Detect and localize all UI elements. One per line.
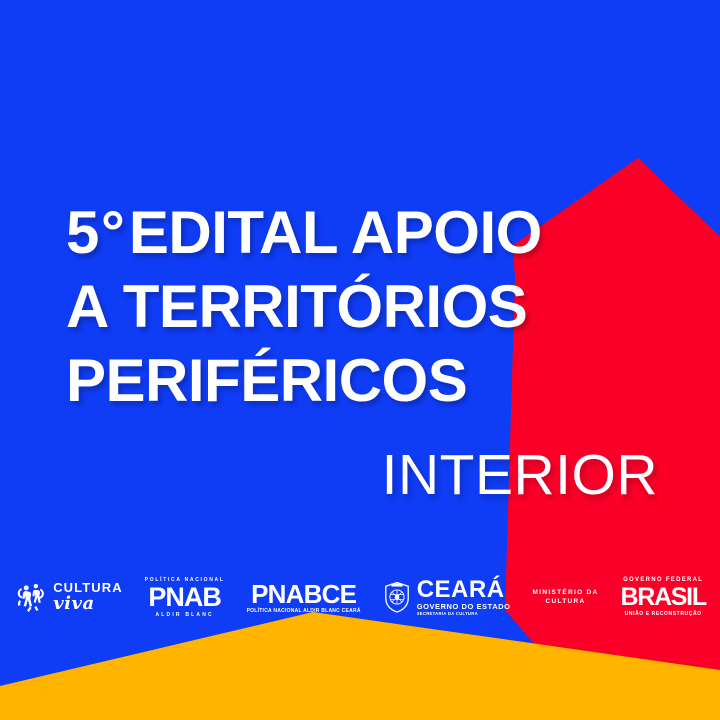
ministerio-line-1: MINISTÉRIO DA <box>533 588 599 597</box>
dancing-figure-icon <box>14 580 48 614</box>
ceara-main-text: CEARÁ <box>417 578 511 602</box>
logo-ministerio-da-cultura: MINISTÉRIO DA CULTURA <box>533 588 599 606</box>
headline-line-3: PERIFÉRICOS <box>66 344 666 418</box>
logo-pnab: POLÍTICA NACIONAL PNAB ALDIR BLANC <box>145 577 225 618</box>
brasil-wordmark: BRASIL <box>621 585 706 610</box>
poster-canvas: 5°EDITAL APOIO A TERRITÓRIOS PERIFÉRICOS… <box>0 0 720 720</box>
cultura-viva-wordmark: CULTURA viva <box>53 581 123 613</box>
pnabce-sub-text: POLÍTICA NACIONAL ALDIR BLANC CEARÁ <box>247 608 361 614</box>
pnab-wordmark: PNAB <box>148 584 221 611</box>
ministerio-line-2: CULTURA <box>546 597 586 606</box>
ceara-sub-text: GOVERNO DO ESTADO <box>417 602 511 611</box>
uniao-reconstrucao-text: UNIÃO E RECONSTRUÇÃO <box>625 611 702 617</box>
pnab-bottom-text: ALDIR BLANC <box>155 612 213 618</box>
degree-symbol: ° <box>99 199 129 266</box>
ceara-wordmark: CEARÁ GOVERNO DO ESTADO SECRETARIA DA CU… <box>417 578 511 617</box>
logo-governo-federal-brasil: GOVERNO FEDERAL BRASIL UNIÃO E RECONSTRU… <box>621 577 706 617</box>
logo-pnabce: PNABCE POLÍTICA NACIONAL ALDIR BLANC CEA… <box>247 581 361 614</box>
pnabce-wordmark: PNABCE <box>251 581 356 607</box>
logo-ceara: CEARÁ GOVERNO DO ESTADO SECRETARIA DA CU… <box>383 578 511 617</box>
logo-bar: CULTURA viva POLÍTICA NACIONAL PNAB ALDI… <box>0 570 720 624</box>
subtitle-interior: INTERIOR <box>382 442 658 508</box>
headline-line-2: A TERRITÓRIOS <box>66 270 666 344</box>
headline-line-1-rest: EDITAL APOIO <box>129 199 542 266</box>
headline-number: 5 <box>66 199 99 266</box>
cultura-viva-script: viva <box>53 595 123 613</box>
headline-block: 5°EDITAL APOIO A TERRITÓRIOS PERIFÉRICOS <box>66 196 666 418</box>
ceara-secretaria-text: SECRETARIA DA CULTURA <box>417 611 511 617</box>
ceara-coat-of-arms-icon <box>383 581 411 613</box>
headline-line-1: 5°EDITAL APOIO <box>66 196 666 270</box>
logo-cultura-viva: CULTURA viva <box>14 580 123 614</box>
